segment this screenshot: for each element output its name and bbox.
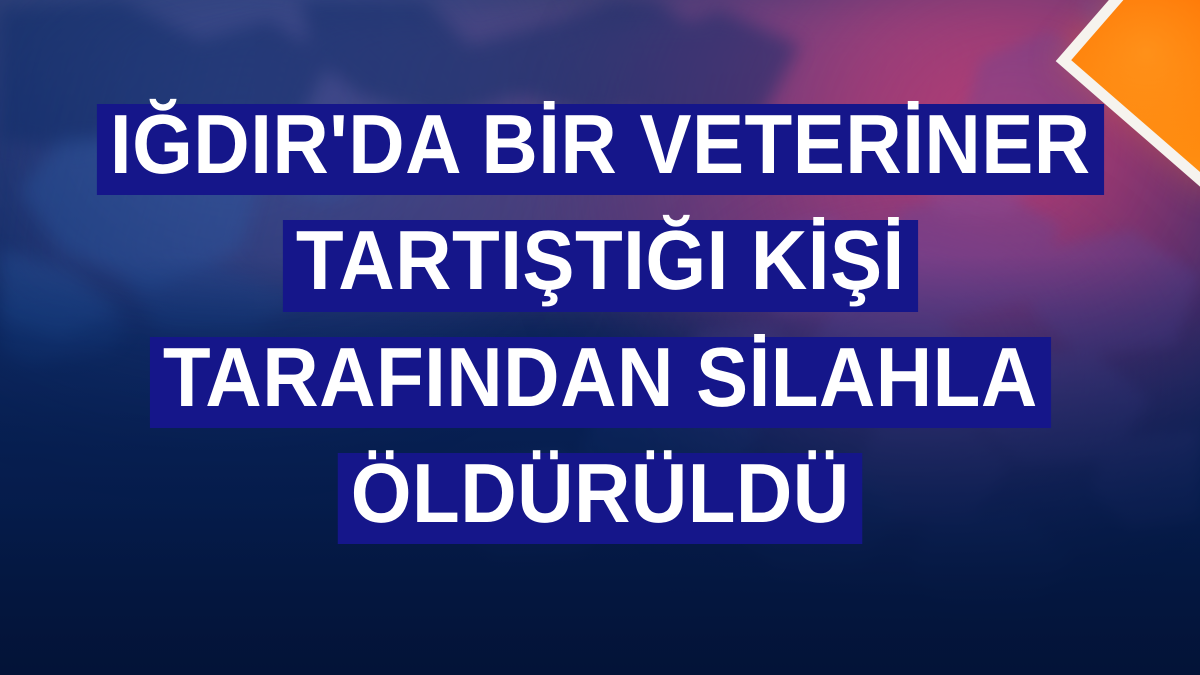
headline-line-1: IĞDIR'DA BİR VETERİNER (97, 104, 1104, 195)
headline-line-3: TARAFINDAN SİLAHLA (150, 337, 1051, 428)
news-headline-graphic: IĞDIR'DA BİR VETERİNER TARTIŞTIĞI KİŞİ T… (0, 0, 1200, 675)
headline-line-4: ÖLDÜRÜLDÜ (338, 453, 863, 544)
headline-block: IĞDIR'DA BİR VETERİNER TARTIŞTIĞI KİŞİ T… (0, 104, 1200, 544)
headline-line-2: TARTIŞTIĞI KİŞİ (283, 220, 918, 311)
